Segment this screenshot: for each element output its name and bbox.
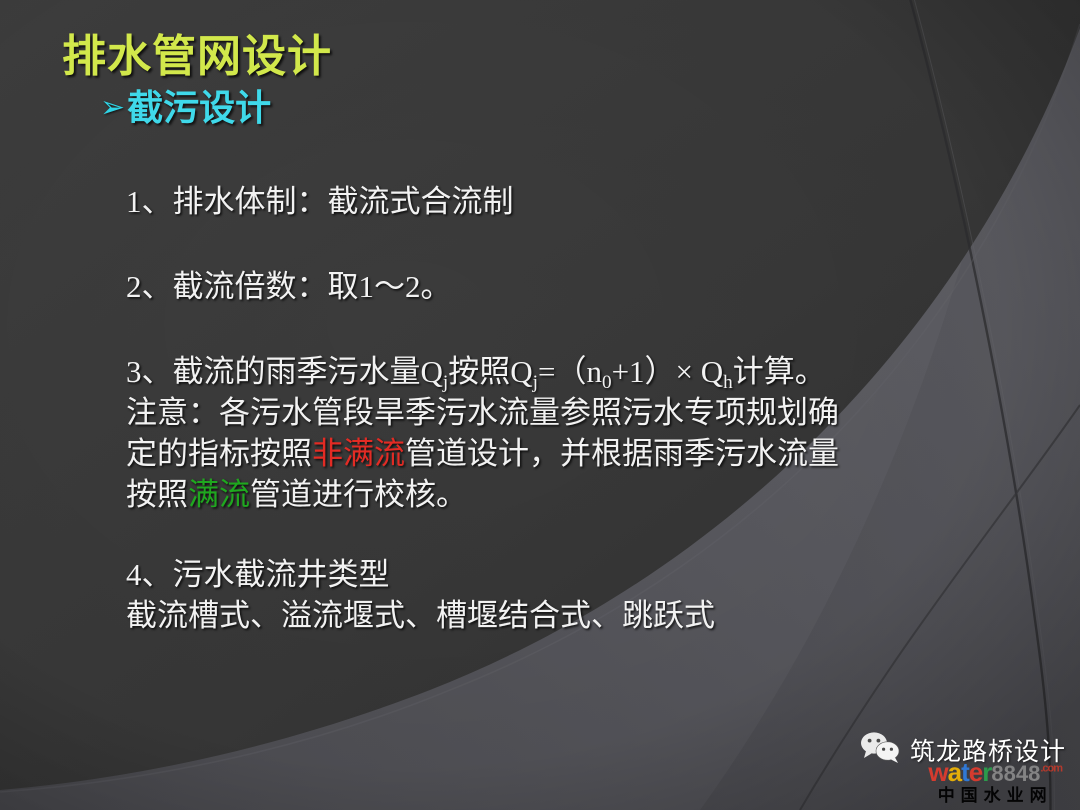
watermark-letter-r: r bbox=[982, 757, 991, 787]
body-item-4: 4、污水截流井类型 截流槽式、溢流堰式、槽堰结合式、跳跃式 bbox=[126, 555, 1026, 637]
body-item-4-line-1: 4、污水截流井类型 bbox=[126, 555, 1026, 596]
title-block: 排水管网设计 ➢ 截污设计 bbox=[62, 34, 332, 128]
formula-text-e: 计算。 bbox=[733, 354, 826, 389]
spacer bbox=[126, 308, 1026, 352]
presentation-slide: 排水管网设计 ➢ 截污设计 1、排水体制：截流式合流制 2、截流倍数：取1～2。… bbox=[0, 0, 1080, 810]
formula-text-b: 按照Q bbox=[448, 354, 532, 389]
page-subtitle: 截污设计 bbox=[127, 88, 271, 128]
wechat-logo-icon bbox=[860, 730, 902, 769]
body-item-1: 1、排水体制：截流式合流制 bbox=[126, 182, 1026, 223]
formula-sub-zero: 0 bbox=[602, 372, 612, 393]
body-item-2: 2、截流倍数：取1～2。 bbox=[126, 267, 1026, 308]
highlight-green-full-flow: 满流 bbox=[188, 477, 250, 512]
watermark-subtitle: 中国水业网 bbox=[928, 787, 1062, 804]
body-item-3-line-4: 按照满流管道进行校核。 bbox=[126, 475, 1026, 516]
line3-text-b: 管道设计，并根据雨季污水流量 bbox=[405, 436, 839, 471]
watermark-letter-t: t bbox=[961, 757, 969, 787]
formula-text-a: 3、截流的雨季污水量Q bbox=[126, 354, 443, 389]
formula-sub-j2: j bbox=[533, 372, 538, 393]
formula-text-c: =（n bbox=[538, 354, 602, 389]
body-item-3: 3、截流的雨季污水量Qj按照Qj=（n0+1）× Qh计算。 注意：各污水管段旱… bbox=[126, 352, 1026, 516]
watermark-domain: water8848.com bbox=[928, 759, 1062, 785]
line4-text-a: 按照 bbox=[126, 477, 188, 512]
line3-text-a: 定的指标按照 bbox=[126, 436, 312, 471]
body-item-3-formula-line: 3、截流的雨季污水量Qj按照Qj=（n0+1）× Qh计算。 bbox=[126, 352, 1026, 393]
site-watermark: water8848.com 中国水业网 bbox=[928, 759, 1062, 804]
highlight-red-non-full-flow: 非满流 bbox=[312, 436, 405, 471]
subtitle-row: ➢ 截污设计 bbox=[100, 88, 332, 128]
spacer bbox=[126, 515, 1026, 555]
spacer bbox=[126, 223, 1026, 267]
formula-sub-j1: j bbox=[443, 372, 448, 393]
body-item-3-line-3: 定的指标按照非满流管道设计，并根据雨季污水流量 bbox=[126, 434, 1026, 475]
watermark-letter-w: w bbox=[928, 757, 947, 787]
body-item-4-line-2: 截流槽式、溢流堰式、槽堰结合式、跳跃式 bbox=[126, 596, 1026, 637]
page-title: 排水管网设计 bbox=[62, 34, 332, 80]
body-item-3-line-2: 注意：各污水管段旱季污水流量参照污水专项规划确 bbox=[126, 393, 1026, 434]
wechat-logo-svg bbox=[860, 730, 902, 764]
slide-footer: 筑龙路桥设计 water8848.com 中国水业网 bbox=[860, 730, 1066, 804]
formula-sub-h: h bbox=[723, 372, 733, 393]
line4-text-b: 管道进行校核。 bbox=[250, 477, 467, 512]
watermark-digits: 8848 bbox=[991, 761, 1040, 786]
watermark-tld: .com bbox=[1040, 762, 1062, 774]
arrow-bullet-icon: ➢ bbox=[100, 93, 125, 123]
watermark-letter-a: a bbox=[948, 757, 961, 787]
slide-body: 1、排水体制：截流式合流制 2、截流倍数：取1～2。 3、截流的雨季污水量Qj按… bbox=[126, 182, 1026, 637]
watermark-letter-e: e bbox=[969, 757, 982, 787]
formula-text-d: +1）× Q bbox=[612, 354, 724, 389]
